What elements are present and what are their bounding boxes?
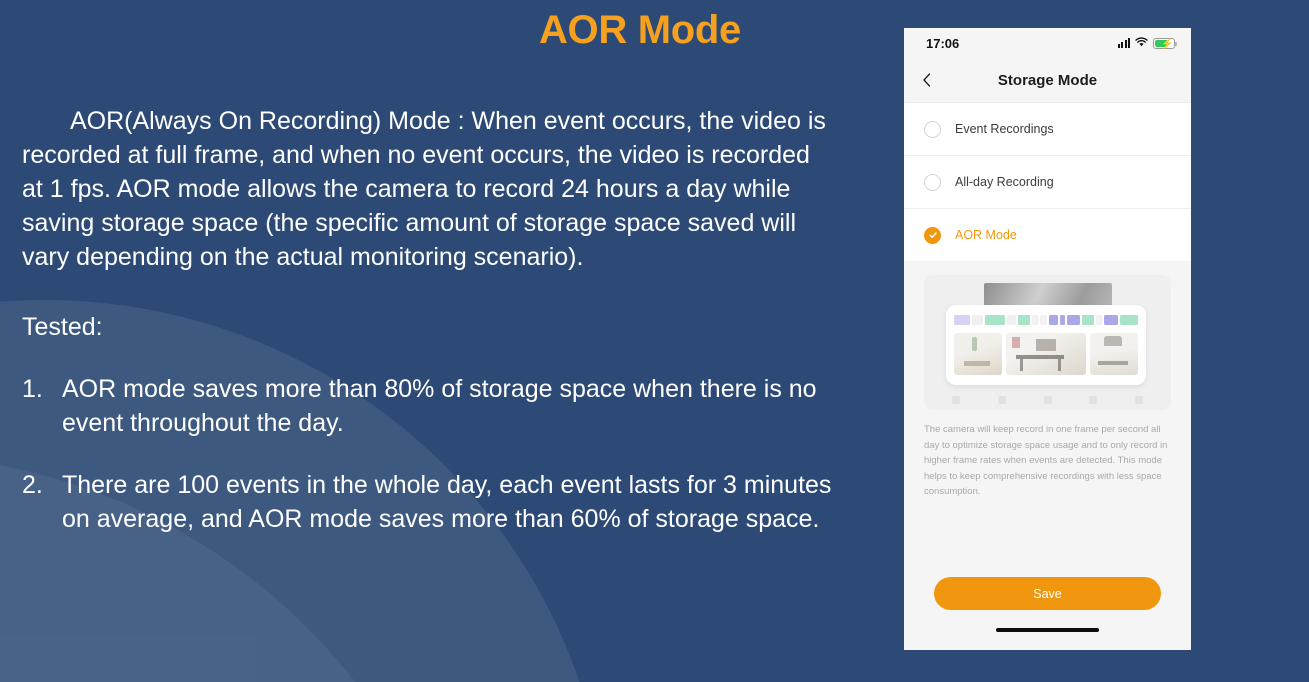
nav-bar: Storage Mode	[904, 58, 1191, 103]
battery-charging-icon: ⚡	[1153, 38, 1175, 49]
status-bar: 17:06 ⚡	[904, 28, 1191, 58]
storage-mode-options: Event Recordings All-day Recording AOR M…	[904, 103, 1191, 261]
list-item-text: AOR mode saves more than 80% of storage …	[62, 372, 832, 440]
thumbnail-image	[1090, 333, 1138, 375]
radio-unchecked-icon[interactable]	[924, 121, 941, 138]
list-item: 1. AOR mode saves more than 80% of stora…	[22, 372, 832, 440]
wifi-icon	[1135, 34, 1148, 52]
tab-icon	[1044, 396, 1052, 404]
option-event-recordings[interactable]: Event Recordings	[904, 103, 1191, 156]
illustration-tabbar	[952, 396, 1143, 404]
illustration-thumbnails	[954, 333, 1138, 375]
slide-body: AOR(Always On Recording) Mode : When eve…	[22, 104, 832, 564]
illustration-sheet	[946, 305, 1146, 385]
save-section: Save	[904, 577, 1191, 610]
save-button[interactable]: Save	[934, 577, 1161, 610]
phone-screenshot: 17:06 ⚡ Storage Mode	[904, 28, 1191, 650]
tested-label: Tested:	[22, 310, 832, 344]
list-marker: 1.	[22, 372, 62, 440]
tab-icon	[1135, 396, 1143, 404]
tab-icon	[952, 396, 960, 404]
tab-icon	[1089, 396, 1097, 404]
status-icons: ⚡	[1118, 34, 1176, 52]
radio-checked-icon[interactable]	[924, 227, 941, 244]
preview-section	[904, 261, 1191, 410]
option-label: AOR Mode	[955, 228, 1017, 242]
spacer	[904, 500, 1191, 578]
home-indicator-area	[904, 610, 1191, 650]
option-all-day-recording[interactable]: All-day Recording	[904, 156, 1191, 209]
aor-mode-illustration	[924, 275, 1171, 410]
option-aor-mode[interactable]: AOR Mode	[904, 209, 1191, 261]
list-item-text: There are 100 events in the whole day, e…	[62, 468, 832, 536]
list-item: 2. There are 100 events in the whole day…	[22, 468, 832, 536]
thumbnail-image	[954, 333, 1002, 375]
illustration-timeline	[954, 315, 1138, 325]
list-marker: 2.	[22, 468, 62, 536]
option-label: All-day Recording	[955, 175, 1054, 189]
mode-description: The camera will keep record in one frame…	[904, 410, 1191, 500]
option-label: Event Recordings	[955, 122, 1054, 136]
nav-title: Storage Mode	[904, 72, 1191, 89]
signal-bars-icon	[1118, 38, 1131, 48]
radio-unchecked-icon[interactable]	[924, 174, 941, 191]
intro-paragraph: AOR(Always On Recording) Mode : When eve…	[22, 104, 832, 274]
chevron-left-icon[interactable]	[917, 70, 937, 90]
tested-list: 1. AOR mode saves more than 80% of stora…	[22, 372, 832, 536]
home-indicator[interactable]	[996, 628, 1099, 632]
thumbnail-image	[1006, 333, 1086, 375]
tab-icon	[998, 396, 1006, 404]
status-time: 17:06	[926, 36, 959, 51]
